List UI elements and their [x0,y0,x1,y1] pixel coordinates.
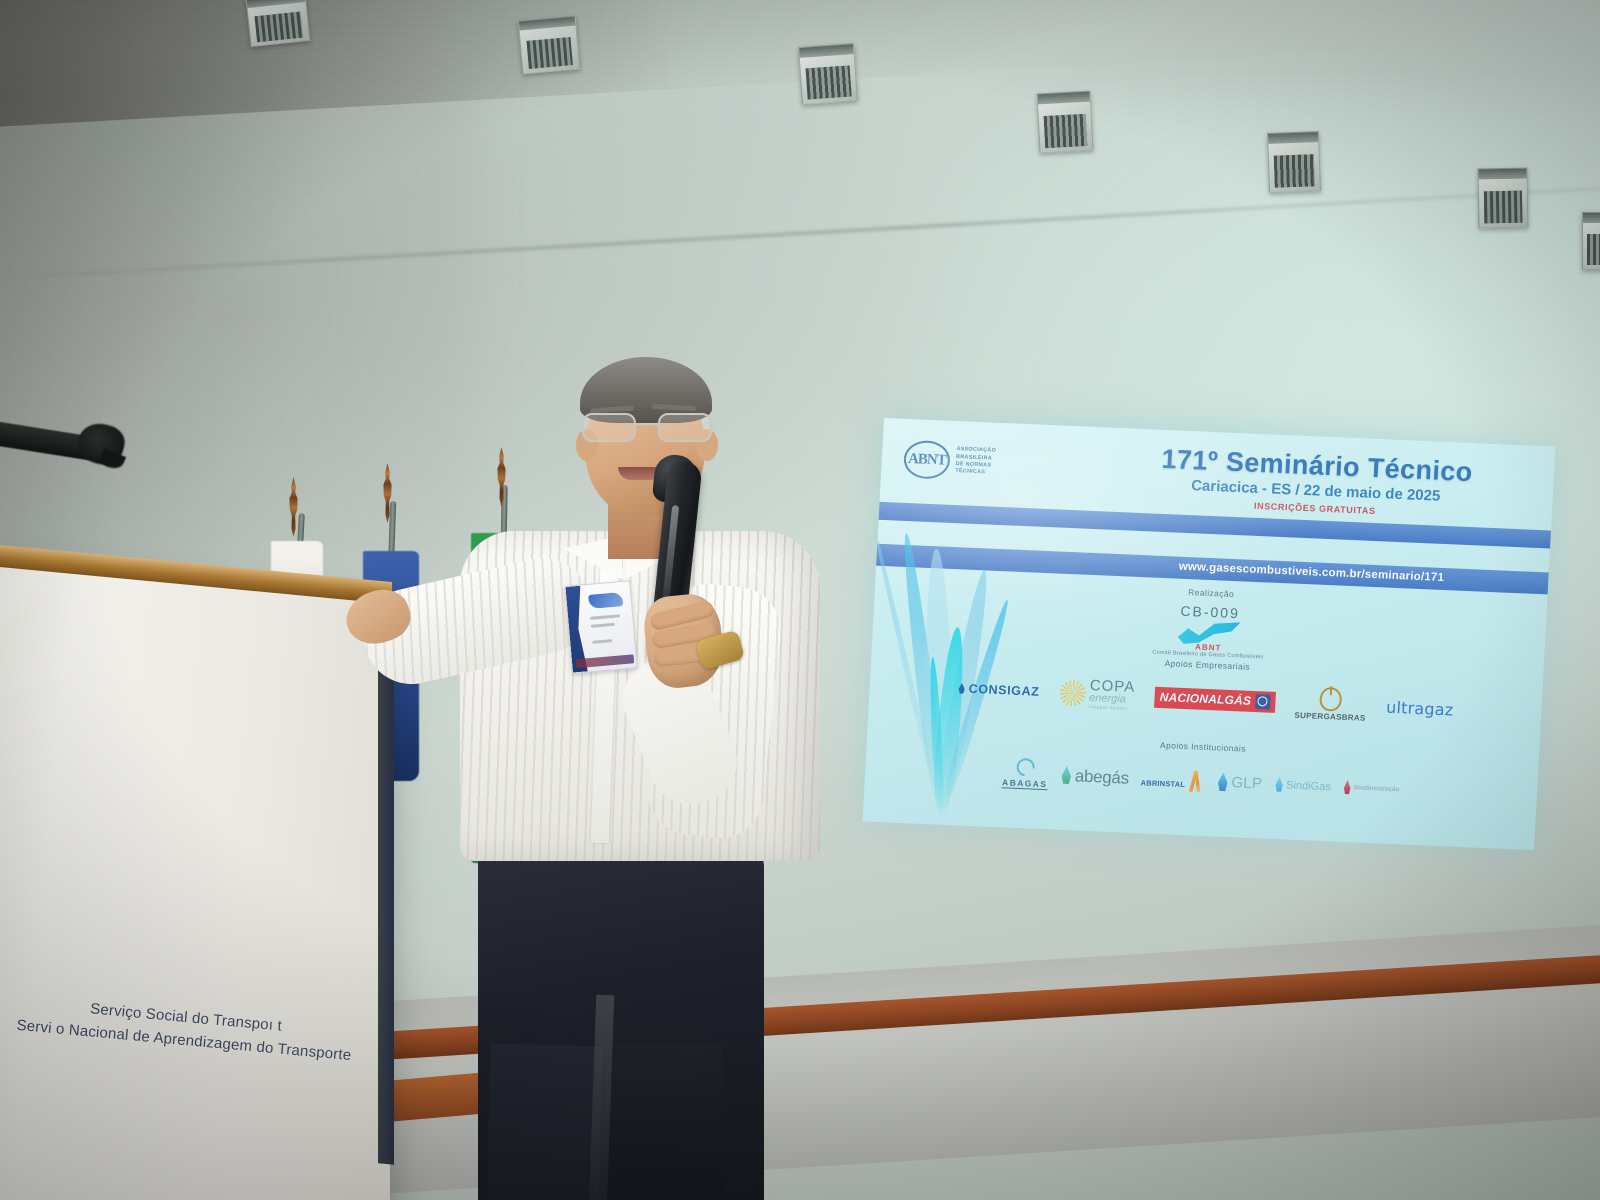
speaker-glasses [582,413,710,439]
abnt-full-name: ASSOCIAÇÃO BRASILEIRA DE NORMAS TÉCNICAS [955,446,996,477]
abnt-logo: ABNT ASSOCIAÇÃO BRASILEIRA DE NORMAS TÉC… [903,437,1025,486]
sponsor-supergasbras: SUPERGASBRAS [1294,686,1367,723]
ceiling-light-fixture [518,16,580,75]
speaker-name-badge [564,580,637,673]
glasses-lens-left [582,413,636,442]
fixture-grille [1484,191,1523,224]
ring-icon [1013,755,1038,780]
sponsor-brands: copagaz liquigás [1089,705,1135,711]
fixture-lip [1268,132,1318,144]
drop-icon [957,683,966,694]
flame-mark-icon [1319,687,1342,712]
sponsor-sindinstalacao: Sindinstalação [1342,780,1400,797]
sponsor-sindigas: SindiGas [1274,776,1331,794]
fixture-lip [1583,213,1600,223]
sponsor-copa-energia: COPA energia copagaz liquigás [1059,677,1136,711]
sponsor-nacionalgas: NACIONALGÁS [1154,686,1276,712]
ceiling-light-fixture [1036,91,1093,154]
sponsor-label: ABAGAS [1002,777,1048,790]
photo-scene: Serviço Social do Transpoı t Servi o Nac… [0,0,1600,1200]
sponsor-label: ultragaz [1386,697,1454,719]
sponsor-ultragaz: ultragaz [1386,697,1454,719]
drop-icon [1216,772,1230,793]
fixture-grille [1274,154,1315,187]
sponsor-abegas: abegás [1059,765,1129,788]
fixture-lip [519,17,576,31]
drop-icon [1342,780,1352,795]
speaker [400,355,860,1200]
drop-icon [1059,766,1073,786]
ceiling-light-fixture [246,0,311,47]
sponsor-label: Sindinstalação [1354,784,1400,793]
sponsor-label-group: COPA energia copagaz liquigás [1089,679,1136,712]
badge-text-line [591,623,615,628]
sponsor-label: SUPERGASBRAS [1294,711,1366,723]
drop-icon [1274,776,1285,792]
ceiling-light-fixture [1582,212,1600,270]
badge-name-strip [576,654,635,668]
sponsor-consigaz: CONSIGAZ [957,681,1039,698]
fixture-grille [254,12,303,42]
podium [0,558,390,1200]
fixture-lip [1478,169,1526,180]
badge-text-line [590,614,620,620]
sponsor-abrinstal: ABRINSTAL [1140,768,1205,793]
fixture-grille [1044,114,1087,148]
fixture-lip [799,44,854,58]
podium-edge-stripe [378,595,394,1165]
ceiling-light-fixture [798,43,858,105]
fixture-lip [1038,92,1090,105]
sponsor-label: GLP [1231,774,1263,792]
fixture-grille [1587,234,1600,265]
sponsor-glp: GLP [1216,772,1263,794]
abnt-mark: ABNT [903,440,951,480]
badge-logo [588,592,623,609]
sun-icon [1059,680,1086,707]
sponsor-label: ABRINSTAL [1140,778,1185,789]
abnt-name-line: TÉCNICAS [955,468,995,477]
badge-text-line [592,639,612,644]
sponsor-label: CONSIGAZ [968,682,1039,699]
sponsor-label: SindiGas [1286,779,1331,793]
sponsor-abagas: ABAGAS [1002,757,1049,790]
speaker-leg-left [485,1044,602,1200]
flame-mark-icon [1186,770,1205,793]
sponsor-label: abegás [1074,766,1129,788]
speaker-leg-right [604,1044,725,1200]
glasses-bridge [634,423,658,425]
fixture-grille [526,37,573,69]
ceiling-light-fixture [1477,168,1528,229]
ceiling-light-fixture [1267,131,1321,193]
fixture-grille [806,66,851,100]
glasses-lens-right [658,413,712,442]
fixture-lip [247,0,306,8]
nacionalgas-badge-icon [1255,694,1271,710]
sponsor-label: NACIONALGÁS [1159,690,1251,708]
projected-slide: ABNT ASSOCIAÇÃO BRASILEIRA DE NORMAS TÉC… [863,418,1556,850]
